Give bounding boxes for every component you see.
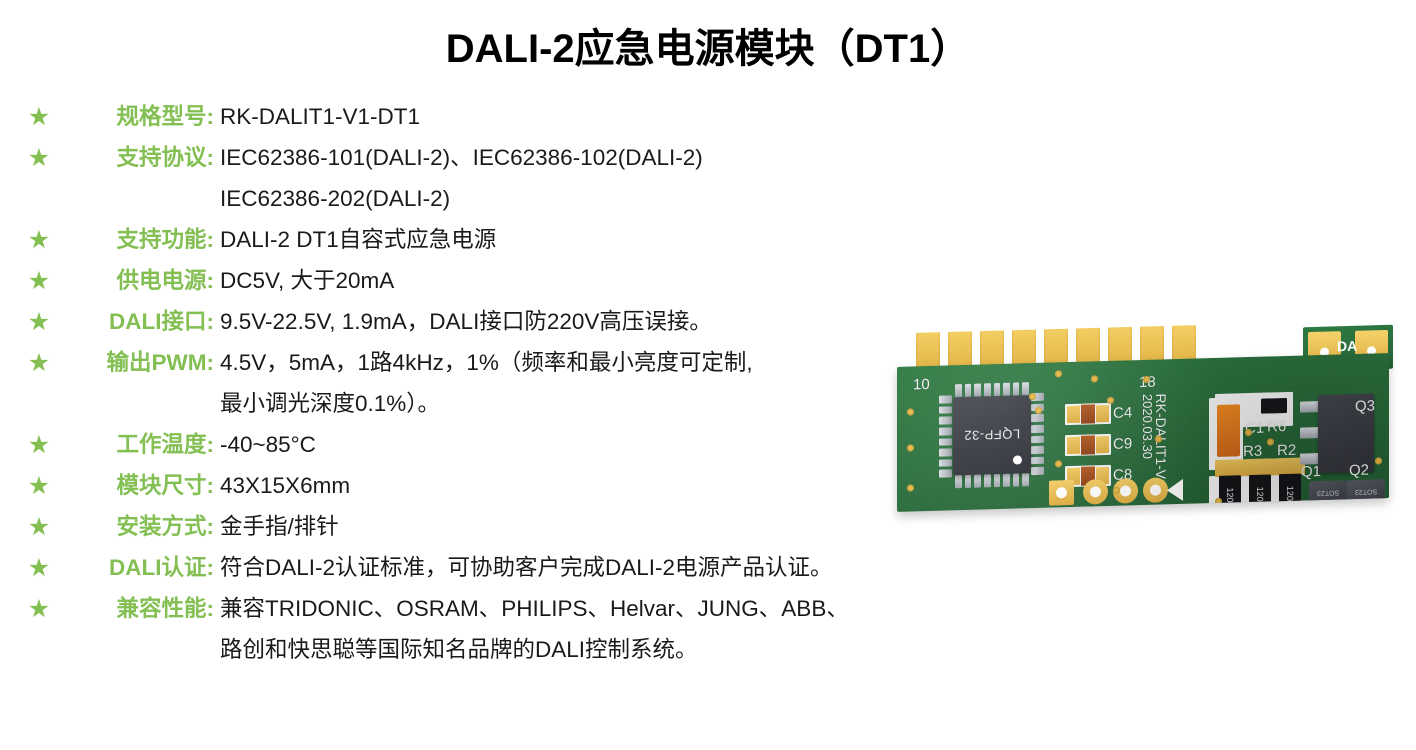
qfp-pins-left — [939, 395, 952, 477]
silkscreen-q1: Q1 — [1301, 463, 1321, 481]
silkscreen-q3: Q3 — [1355, 398, 1375, 416]
qfp-pins-bottom — [955, 473, 1029, 488]
silkscreen-date-code: 2020.03.30 — [1140, 394, 1155, 459]
spec-label: 兼容性能: — [60, 592, 220, 626]
ic-pin — [1013, 473, 1020, 486]
ic-pin — [939, 395, 952, 403]
spec-value: -40~85°C — [220, 428, 986, 462]
spec-value: 9.5V-22.5V, 1.9mA，DALI接口防220V高压误接。 — [220, 305, 986, 339]
silkscreen-pin-10: 10 — [913, 376, 930, 393]
via-hole — [907, 408, 914, 415]
ic-pin — [1022, 382, 1029, 395]
via-hole — [907, 444, 914, 451]
star-icon: ★ — [26, 346, 52, 380]
silkscreen-q2: Q2 — [1349, 462, 1369, 480]
silkscreen-r2: R2 — [1277, 442, 1296, 460]
spec-label: 安装方式: — [60, 510, 220, 544]
ic-pin — [984, 383, 991, 396]
ic-pin — [984, 474, 991, 487]
ic-pin — [994, 383, 1001, 396]
spec-value: 43X15X6mm — [220, 469, 986, 503]
spec-row-compatibility-continued: 路创和快思聪等国际知名品牌的DALI控制系统。 — [26, 633, 986, 667]
spec-row-power-supply: ★ 供电电源: DC5V, 大于20mA — [26, 264, 986, 298]
spec-label: DALI接口: — [60, 305, 220, 339]
ic-pin — [1031, 446, 1044, 454]
star-icon: ★ — [26, 469, 52, 503]
pcb-board-image: DA 10 18 — [893, 312, 1403, 527]
via-hole — [1091, 375, 1098, 382]
star-icon: ★ — [26, 305, 52, 339]
ic-pin — [955, 384, 962, 397]
spec-row-dali-certification: ★ DALI认证: 符合DALI-2认证标准，可协助客户完成DALI-2电源产品… — [26, 551, 986, 585]
ic-pin — [1031, 457, 1044, 465]
ic-pin — [1031, 425, 1044, 433]
pcb-substrate: 10 18 — [897, 353, 1389, 512]
capacitor-c9 — [1065, 434, 1111, 456]
transistor-marking: SOT23 — [1317, 487, 1339, 496]
polarity-triangle-marker — [1167, 479, 1183, 501]
ic-pin — [1022, 473, 1029, 486]
microcontroller-ic: LQFP-32 — [953, 395, 1031, 475]
page-title: DALI-2应急电源模块（DT1） — [0, 16, 1416, 74]
resistor-value-code: 1206 — [1255, 487, 1265, 507]
resistor-pad — [1215, 459, 1245, 477]
spec-row-function: ★ 支持功能: DALI-2 DT1自容式应急电源 — [26, 223, 986, 257]
ic-pin — [939, 470, 952, 478]
spec-value: DC5V, 大于20mA — [220, 264, 986, 298]
star-icon: ★ — [26, 264, 52, 298]
spec-row-mounting: ★ 安装方式: 金手指/排针 — [26, 510, 986, 544]
silkscreen-da-label: DA — [1337, 338, 1357, 355]
ic-pin — [1003, 474, 1010, 487]
star-icon: ★ — [26, 100, 52, 134]
silkscreen-c4: C4 — [1113, 404, 1132, 422]
ic-pin — [965, 384, 972, 397]
spec-label: 规格型号: — [60, 100, 220, 134]
resistor-value-code: 1206 — [1225, 487, 1235, 507]
via-hole — [1375, 457, 1382, 464]
spec-value-extra: IEC62386-202(DALI-2) — [220, 182, 986, 216]
capacitor-body — [1081, 404, 1095, 423]
ic-pin — [974, 384, 981, 397]
star-icon: ★ — [26, 510, 52, 544]
spec-label: 模块尺寸: — [60, 469, 220, 503]
spec-value: 4.5V，5mA，1路4kHz，1%（频率和最小亮度可定制, — [220, 346, 986, 380]
spec-label: 支持功能: — [60, 223, 220, 257]
ic-pin — [994, 474, 1001, 487]
spec-value-extra: 最小调光深度0.1%）。 — [220, 387, 986, 421]
ic-pin — [974, 475, 981, 488]
spec-row-protocol-continued: IEC62386-202(DALI-2) — [26, 182, 986, 216]
transistor-marking: SOT23 — [1355, 486, 1377, 495]
via-hole — [1215, 498, 1222, 505]
test-pad — [1083, 479, 1108, 505]
qfp-pins-right — [1031, 393, 1044, 475]
spec-row-module-size: ★ 模块尺寸: 43X15X6mm — [26, 469, 986, 503]
ic-pin — [939, 448, 952, 456]
spec-value: IEC62386-101(DALI-2)、IEC62386-102(DALI-2… — [220, 141, 986, 175]
resistor-r4: 1206 — [1219, 475, 1241, 512]
ic-pin — [1013, 382, 1020, 395]
resistor-r6 — [1261, 398, 1287, 414]
via-hole — [1107, 397, 1114, 404]
star-icon: ★ — [26, 428, 52, 462]
silkscreen-r6: R6 — [1267, 418, 1286, 436]
capacitor-body — [1081, 435, 1095, 454]
spec-row-pwm-output: ★ 输出PWM: 4.5V，5mA，1路4kHz，1%（频率和最小亮度可定制, — [26, 346, 986, 380]
spec-value: RK-DALIT1-V1-DT1 — [220, 100, 986, 134]
spec-label: 工作温度: — [60, 428, 220, 462]
star-icon: ★ — [26, 551, 52, 585]
silkscreen-c9: C9 — [1113, 435, 1132, 453]
resistor-value-code: 1206 — [1285, 486, 1295, 506]
ic-pin — [939, 427, 952, 435]
test-pad — [1049, 480, 1074, 506]
spec-row-dali-interface: ★ DALI接口: 9.5V-22.5V, 1.9mA，DALI接口防220V高… — [26, 305, 986, 339]
ic-pin — [965, 475, 972, 488]
resistor-pad — [1245, 458, 1275, 476]
transistor-q2: SOT23 — [1347, 479, 1385, 502]
spec-label: DALI认证: — [60, 551, 220, 585]
capacitor-c1 — [1217, 404, 1240, 457]
spec-value: DALI-2 DT1自容式应急电源 — [220, 223, 986, 257]
spec-list: ★ 规格型号: RK-DALIT1-V1-DT1 ★ 支持协议: IEC6238… — [26, 100, 986, 674]
spec-label: 支持协议: — [60, 141, 220, 175]
spec-label: 供电电源: — [60, 264, 220, 298]
spec-row-model: ★ 规格型号: RK-DALIT1-V1-DT1 — [26, 100, 986, 134]
spec-row-protocol: ★ 支持协议: IEC62386-101(DALI-2)、IEC62386-10… — [26, 141, 986, 175]
ic-pin — [939, 438, 952, 446]
star-icon: ★ — [26, 592, 52, 626]
ic-pin — [955, 475, 962, 488]
spec-row-compatibility: ★ 兼容性能: 兼容TRIDONIC、OSRAM、PHILIPS、Helvar、… — [26, 592, 986, 626]
transistor-q1: SOT23 — [1309, 480, 1347, 503]
star-icon: ★ — [26, 141, 52, 175]
ic-pin — [939, 459, 952, 467]
silkscreen-r3: R3 — [1243, 443, 1262, 461]
via-hole — [1055, 370, 1062, 377]
spec-row-pwm-output-continued: 最小调光深度0.1%）。 — [26, 387, 986, 421]
via-hole — [1267, 438, 1274, 445]
capacitor-c4 — [1065, 403, 1111, 425]
ic-pin — [1031, 467, 1044, 475]
spec-value-extra: 路创和快思聪等国际知名品牌的DALI控制系统。 — [220, 633, 986, 667]
product-spec-sheet: DALI-2应急电源模块（DT1） ★ 规格型号: RK-DALIT1-V1-D… — [0, 0, 1416, 750]
resistor-r2: 1206 — [1279, 474, 1301, 512]
test-pad — [1143, 477, 1168, 503]
ic-pin — [1031, 414, 1044, 422]
resistor-r3: 1206 — [1249, 474, 1271, 511]
spec-row-operating-temperature: ★ 工作温度: -40~85°C — [26, 428, 986, 462]
ic-pin — [1031, 435, 1044, 443]
ic-pin — [939, 406, 952, 414]
spec-label: 输出PWM: — [60, 346, 220, 380]
spec-value: 符合DALI-2认证标准，可协助客户完成DALI-2电源产品认证。 — [220, 551, 986, 585]
spec-value: 兼容TRIDONIC、OSRAM、PHILIPS、Helvar、JUNG、ABB… — [220, 592, 986, 626]
via-hole — [1055, 460, 1062, 467]
ic-pin — [1003, 383, 1010, 396]
ic-pin — [939, 417, 952, 425]
spec-value: 金手指/排针 — [220, 510, 986, 544]
star-icon: ★ — [26, 223, 52, 257]
via-hole — [907, 484, 914, 491]
